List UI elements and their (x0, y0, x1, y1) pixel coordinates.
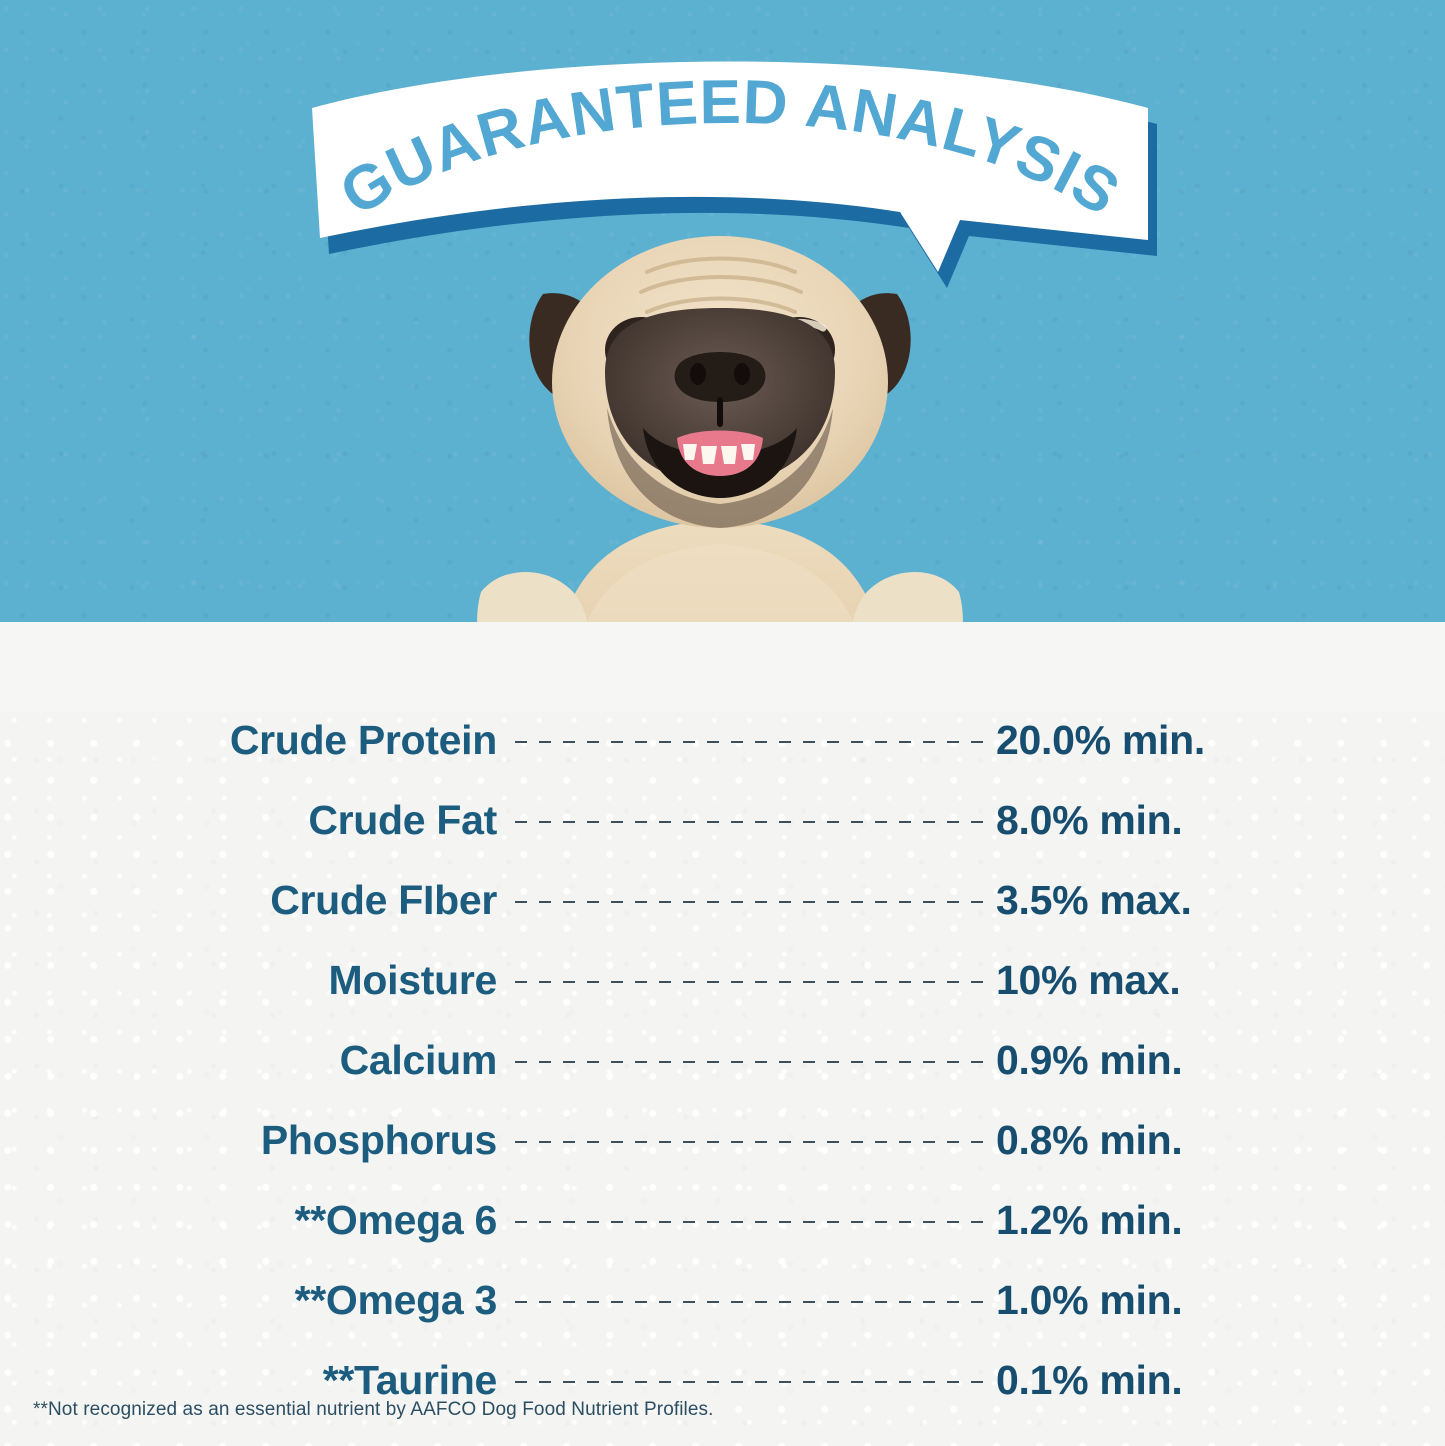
table-row: Moisture 10% max. (0, 940, 1445, 1020)
table-row: Crude FIber 3.5% max. (0, 860, 1445, 940)
table-row: Crude Protein 20.0% min. (0, 700, 1445, 780)
nutrient-value: 20.0% min. (996, 717, 1205, 764)
nutrient-label: Crude FIber (0, 877, 497, 924)
dot-leader (515, 901, 983, 904)
footnote-text: **Not recognized as an essential nutrien… (33, 1399, 714, 1421)
dot-leader (515, 741, 983, 744)
dot-leader (515, 1381, 983, 1384)
pug-dog-image (455, 232, 985, 687)
nutrient-value: 8.0% min. (996, 797, 1182, 844)
dot-leader (515, 821, 983, 824)
nutrient-value: 3.5% max. (996, 877, 1192, 924)
dog-nose (675, 352, 766, 402)
nutrient-value: 1.0% min. (996, 1277, 1182, 1324)
nutrient-label: Crude Fat (0, 797, 497, 844)
nutrient-label: Moisture (0, 957, 497, 1004)
nutrient-label: Phosphorus (0, 1117, 497, 1164)
dot-leader (515, 1141, 983, 1144)
nutrient-value: 0.8% min. (996, 1117, 1182, 1164)
nutrient-label: Crude Protein (0, 717, 497, 764)
nutrient-label: **Omega 3 (0, 1277, 497, 1324)
nutrient-label: **Omega 6 (0, 1197, 497, 1244)
nutrient-value: 0.1% min. (996, 1357, 1182, 1404)
nutrient-label: Calcium (0, 1037, 497, 1084)
nutrient-value: 0.9% min. (996, 1037, 1182, 1084)
dot-leader (515, 981, 983, 984)
dot-leader (515, 1221, 983, 1224)
nutrient-value: 10% max. (996, 957, 1181, 1004)
guaranteed-analysis-panel: GUARANTEED ANALYSIS (0, 0, 1445, 1446)
white-board (0, 622, 1445, 712)
table-row: **Omega 6 1.2% min. (0, 1180, 1445, 1260)
nutrient-value: 1.2% min. (996, 1197, 1182, 1244)
dot-leader (515, 1301, 983, 1304)
nutrient-label: **Taurine (0, 1357, 497, 1404)
table-row: **Omega 3 1.0% min. (0, 1260, 1445, 1340)
guaranteed-analysis-table: Crude Protein 20.0% min. Crude Fat 8.0% … (0, 700, 1445, 1420)
dot-leader (515, 1061, 983, 1064)
table-row: Calcium 0.9% min. (0, 1020, 1445, 1100)
table-row: Crude Fat 8.0% min. (0, 780, 1445, 860)
table-row: Phosphorus 0.8% min. (0, 1100, 1445, 1180)
